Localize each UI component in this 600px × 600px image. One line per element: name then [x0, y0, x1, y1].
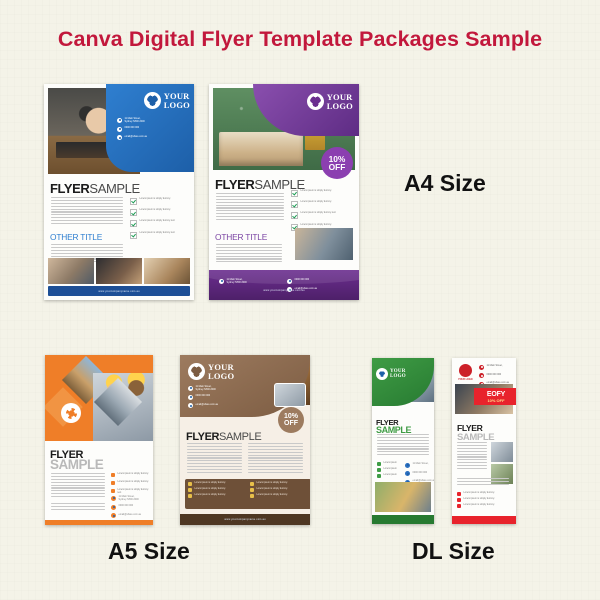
open-book-photo — [219, 132, 303, 166]
strip-photo-1 — [48, 258, 94, 284]
flyer-brown-a5[interactable]: YOUR LOGO 11 Main Street, Sydney NSW 200… — [180, 355, 310, 525]
footer-bar: www.yourcompanyname.com.au — [180, 514, 310, 525]
contact-phone: 0000 000 000 — [479, 373, 513, 379]
body-paragraph-2 — [216, 244, 282, 264]
checklist-item: Lorem ipsum is simply dummy — [457, 492, 509, 496]
check-icon — [188, 488, 192, 492]
envelope-icon — [188, 403, 193, 408]
flyer-blue-a4[interactable]: YOUR LOGO 11 Main Street, Sydney NSW 200… — [44, 84, 194, 300]
check-icon — [457, 504, 461, 508]
discount-badge: 10% OFF — [321, 147, 353, 179]
checklist-item: Lorem ipsum — [377, 474, 401, 478]
website-url: www.yourcompanyname.com.au — [224, 518, 265, 521]
logo-block: YOUR LOGO — [376, 368, 406, 380]
check-icon — [130, 198, 137, 205]
contact-list: 11 Main Street, Sydney NSW 2000 0000 000… — [117, 117, 189, 143]
website-url: www.yourcompanyname.com.au — [209, 278, 359, 296]
check-icon — [377, 474, 381, 478]
side-photo-1 — [491, 442, 513, 462]
couple-photo — [274, 383, 306, 407]
checklist-column-left: Lorem ipsum is simply dummy Lorem ipsum … — [188, 482, 246, 506]
logo-block: YOUR LOGO — [307, 93, 353, 110]
check-icon — [130, 220, 137, 227]
page-title: Canva Digital Flyer Template Packages Sa… — [0, 27, 600, 52]
strip-photo-3 — [144, 258, 190, 284]
checklist-column-right: Lorem ipsum is simply dummy Lorem ipsum … — [250, 482, 308, 506]
logo-text: YOUR LOGO — [164, 92, 190, 109]
contact-phone: 0000 000 000 — [117, 126, 189, 132]
check-icon — [291, 201, 298, 208]
poster-canvas: Canva Digital Flyer Template Packages Sa… — [0, 0, 600, 600]
footer-bar — [372, 515, 434, 524]
contact-email: email@share.com.au — [111, 513, 151, 519]
flyer-heading: FLYERSAMPLE — [50, 180, 140, 198]
body-paragraph-1 — [377, 434, 429, 457]
footer-panel: 11 Main Street, Sydney NSW 2000 0000 000… — [209, 270, 359, 300]
checklist-item: Lorem ipsum is simply dummy — [130, 198, 190, 205]
check-icon — [188, 494, 192, 498]
check-icon — [111, 481, 115, 485]
location-pin-icon — [111, 496, 116, 501]
logo-text: YOUR LOGO — [327, 93, 353, 110]
logo-block: YOUR LOGO — [188, 363, 234, 380]
contact-email: email@share.com.au — [188, 403, 246, 409]
flyer-green-dl[interactable]: YOUR LOGO FLYER SAMPLE Lorem ipsum Lorem… — [372, 358, 434, 524]
contact-address: 11 Main Street, Sydney NSW 2000 — [111, 495, 151, 501]
check-icon — [377, 468, 381, 472]
check-icon — [250, 494, 254, 498]
body-column-1 — [187, 443, 242, 475]
checklist-item: Lorem ipsum is simply dummy — [188, 494, 246, 498]
eofy-ribbon-banner: EOFY 10% OFF — [474, 388, 516, 405]
check-icon — [130, 209, 137, 216]
flyer-purple-a4[interactable]: YOUR LOGO 10% OFF FLYERSAMPLE Lorem ipsu… — [209, 84, 359, 300]
checklist: Lorem ipsum is simply dummy Lorem ipsum … — [185, 479, 310, 509]
body-paragraph-1 — [51, 197, 123, 226]
size-label-dl: DL Size — [412, 538, 495, 565]
discount-badge: 10% OFF — [278, 407, 304, 433]
flyer-orange-a5[interactable]: FLYER SAMPLE Lorem ipsum is simply dummy… — [45, 355, 153, 525]
photo-strip — [375, 482, 431, 512]
body-paragraph-2 — [457, 478, 509, 487]
checklist-item: Lorem ipsum is simply dummy — [111, 481, 151, 485]
check-icon — [130, 232, 137, 239]
check-icon — [111, 473, 115, 477]
size-label-a4: A4 Size — [404, 170, 486, 197]
checklist-left: Lorem ipsum Lorem ipsum Lorem ipsum — [377, 462, 401, 480]
logo-emblem-icon — [144, 92, 161, 109]
envelope-icon — [111, 513, 116, 518]
check-icon — [291, 190, 298, 197]
strip-photo-2 — [96, 258, 142, 284]
location-pin-icon — [479, 365, 484, 370]
body-paragraph-1 — [51, 473, 105, 499]
check-icon — [457, 492, 461, 496]
check-icon — [111, 489, 115, 493]
check-icon — [250, 488, 254, 492]
body-column-2 — [248, 443, 303, 475]
phone-icon — [188, 395, 193, 400]
check-icon — [457, 498, 461, 502]
contact-address: 11 Main Street, — [479, 364, 513, 370]
logo-block: YOUR LOGO — [458, 364, 473, 381]
contact-phone: 0000 000 000 — [188, 394, 246, 400]
checklist-item: Lorem ipsum is simply dummy — [111, 473, 151, 477]
body-paragraph-1 — [457, 442, 487, 471]
body-paragraph-1 — [216, 193, 284, 222]
flyer-heading-light: SAMPLE — [50, 456, 103, 474]
phone-icon — [479, 373, 484, 378]
checklist-item: Lorem ipsum is simply dummy — [250, 488, 308, 492]
body-paragraph-2 — [51, 503, 105, 512]
checklist-item: Lorem ipsum is simply dummy — [250, 494, 308, 498]
photo-strip — [48, 258, 190, 284]
checklist-item: Lorem ipsum is simply dummy text — [130, 232, 190, 239]
checklist-item: Lorem ipsum is simply dummy — [291, 190, 353, 197]
footer-bar: www.yourcompanyname.com.au — [48, 286, 190, 296]
contact-phone: 0000 000 000 — [111, 504, 151, 510]
location-pin-icon — [117, 118, 122, 123]
logo-text: YOUR LOGO — [458, 378, 473, 381]
check-icon — [291, 212, 298, 219]
checklist: Lorem ipsum is simply dummy Lorem ipsum … — [130, 198, 190, 243]
students-photo — [295, 228, 353, 260]
website-url: www.yourcompanyname.com.au — [98, 290, 139, 293]
contact-address: 11 Main Street, — [405, 462, 431, 468]
footer-bar — [45, 520, 153, 525]
contact-address: 11 Main Street, Sydney NSW 2000 — [117, 117, 189, 123]
phone-icon — [117, 127, 122, 132]
check-icon — [188, 482, 192, 486]
footer-bar — [452, 516, 516, 524]
orange-header-panel — [45, 355, 153, 441]
location-pin-icon — [188, 386, 193, 391]
checklist-item: Lorem ipsum is simply dummy text — [130, 220, 190, 227]
phone-icon — [111, 505, 116, 510]
logo-text: YOUR LOGO — [208, 363, 234, 380]
size-label-a5: A5 Size — [108, 538, 190, 565]
checklist-item: Lorem ipsum — [377, 462, 401, 466]
check-icon — [250, 482, 254, 486]
phone-icon — [405, 471, 410, 476]
logo-emblem-icon — [307, 93, 324, 110]
flyer-red-dl[interactable]: YOUR LOGO 11 Main Street, 0000 000 000 e… — [452, 358, 516, 524]
flyer-subheading: OTHER TITLE — [50, 232, 102, 242]
checklist-item: Lorem ipsum is simply dummy — [457, 504, 509, 508]
contact-address: 11 Main Street, Sydney NSW 2000 — [188, 385, 246, 391]
logo-emblem-icon — [459, 364, 472, 377]
checklist-item: Lorem ipsum is simply dummy — [188, 482, 246, 486]
checklist-item: Lorem ipsum — [377, 468, 401, 472]
checklist-item: Lorem ipsum is simply dummy — [457, 498, 509, 502]
location-pin-icon — [405, 463, 410, 468]
contact-phone: 0000 000 000 — [405, 471, 431, 477]
logo-emblem-icon — [61, 403, 81, 423]
check-icon — [377, 462, 381, 466]
checklist-item: Lorem ipsum is simply dummy — [188, 488, 246, 492]
contact-list: 11 Main Street, Sydney NSW 2000 0000 000… — [188, 385, 246, 411]
logo-block: YOUR LOGO — [144, 92, 190, 109]
logo-emblem-icon — [376, 368, 388, 380]
checklist: Lorem ipsum is simply dummy Lorem ipsum … — [457, 492, 509, 510]
envelope-icon — [117, 135, 122, 140]
contact-email: email@share.com.au — [117, 135, 189, 141]
flyer-subheading: OTHER TITLE — [215, 232, 267, 242]
logo-text: YOUR LOGO — [390, 369, 406, 379]
checklist-item: Lorem ipsum is simply dummy — [291, 201, 353, 208]
checklist-item: Lorem ipsum is simply dummy — [250, 482, 308, 486]
checklist-item: Lorem ipsum is simply dummy text — [291, 212, 353, 219]
checklist-item: Lorem ipsum is simply dummy — [130, 209, 190, 216]
logo-emblem-icon — [188, 363, 205, 380]
